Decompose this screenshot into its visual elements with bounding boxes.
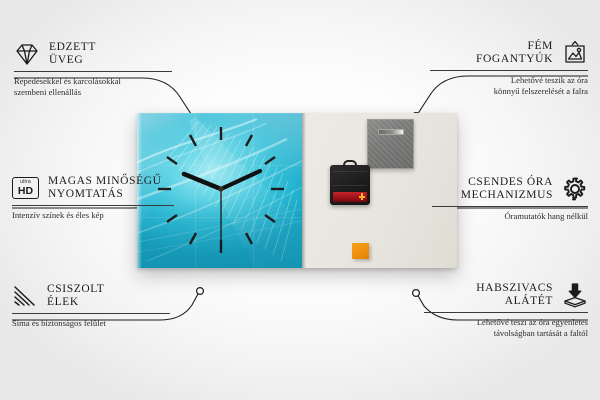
infographic-canvas: EDZETT ÜVEG Repedésekkel és karcolásokka…: [0, 0, 600, 400]
feature-high-quality-print: ultra HD MAGAS MINŐSÉGŰ NYOMTATÁS Intenz…: [12, 175, 174, 221]
clock-movement: [330, 165, 370, 205]
feature-title: CSENDES ÓRA MECHANIZMUS: [461, 176, 553, 202]
tick-10: [167, 157, 177, 164]
feature-rule: [430, 70, 588, 71]
polished-edge-icon: [12, 283, 38, 309]
feature-tempered-glass: EDZETT ÜVEG Repedésekkel és karcolásokka…: [14, 41, 172, 97]
feature-title: CSISZOLT ÉLEK: [47, 283, 104, 309]
feature-title-line-2: NYOMTATÁS: [48, 188, 162, 201]
battery: [333, 192, 367, 202]
gear-icon: [562, 176, 588, 202]
feature-rule: [12, 205, 174, 206]
feature-title: MAGAS MINŐSÉGŰ NYOMTATÁS: [48, 175, 162, 201]
feature-rule: [424, 312, 588, 313]
feature-desc-line-1: Lehetővé teszi az óra egyenletes: [424, 317, 588, 328]
tick-2: [265, 157, 275, 164]
feature-title-line-2: FOGANTYÚK: [476, 53, 553, 66]
endpoint-dot-foam-spacer: [413, 290, 420, 297]
feature-desc-line-1: Intenzív színek és éles kép: [12, 210, 174, 221]
movement-hanger-tab: [343, 160, 357, 167]
feature-title-line-1: EDZETT: [49, 41, 96, 54]
panel-seam-shadow: [302, 113, 306, 268]
tick-5: [246, 233, 252, 244]
feature-desc-line-2: könnyű felszerelését a falra: [430, 86, 588, 97]
feature-title-line-2: ALÁTÉT: [476, 295, 553, 308]
product-photo: [137, 113, 457, 268]
feature-polished-edges: CSISZOLT ÉLEK Sima és biztonságos felüle…: [12, 283, 170, 329]
foam-pad-press-icon: [562, 282, 588, 308]
feature-desc-line-1: Sima és biztonságos felület: [12, 318, 170, 329]
feature-desc-line-1: Lehetővé teszik az óra: [430, 75, 588, 86]
feature-title-line-1: CSENDES ÓRA: [461, 176, 553, 189]
movement-ridge: [333, 171, 367, 172]
ultra-label: ultra: [20, 180, 31, 185]
tick-1: [246, 135, 252, 146]
metal-hanger-plate: [367, 119, 414, 169]
wall-hanging-picture-icon: [562, 40, 588, 66]
feature-title: FÉM FOGANTYÚK: [476, 40, 553, 66]
feature-description: Sima és biztonságos felület: [12, 318, 170, 329]
feature-rule: [14, 71, 172, 72]
battery-plus-terminal: [359, 193, 365, 200]
tick-11: [190, 135, 196, 146]
feature-description: Lehetővé teszik az óra könnyű felszerelé…: [430, 75, 588, 96]
movement-ridge-2: [333, 185, 367, 186]
hd-label: HD: [18, 186, 33, 197]
feature-desc-line-2: távolságban tartását a faltól: [424, 328, 588, 339]
endpoint-dot-polished-edges: [197, 288, 204, 295]
ultra-hd-badge-icon: ultra HD: [12, 177, 39, 199]
foam-spacer-pad: [352, 243, 369, 259]
feature-desc-line-1: Óramutatók hang nélkül: [432, 211, 588, 222]
clock-hour-hand: [184, 174, 221, 189]
feature-description: Intenzív színek és éles kép: [12, 210, 174, 221]
hanger-slot: [378, 129, 404, 135]
clock-minute-hand: [221, 171, 260, 189]
clock-center-cap: [218, 186, 223, 191]
feature-description: Repedésekkel és karcolásokkal szembeni e…: [14, 76, 172, 97]
feature-description: Óramutatók hang nélkül: [432, 211, 588, 222]
tick-7: [190, 233, 196, 244]
feature-desc-line-2: szembeni ellenállás: [14, 87, 172, 98]
feature-title-line-2: ÜVEG: [49, 54, 96, 67]
diamond-icon: [14, 41, 40, 67]
feature-title-line-1: MAGAS MINŐSÉGŰ: [48, 175, 162, 188]
feature-description: Lehetővé teszi az óra egyenletes távolsá…: [424, 317, 588, 338]
feature-title-line-1: FÉM: [476, 40, 553, 53]
feature-desc-line-1: Repedésekkel és karcolásokkal: [14, 76, 172, 87]
feature-title-line-1: HABSZIVACS: [476, 282, 553, 295]
feature-title-line-2: MECHANIZMUS: [461, 189, 553, 202]
feature-rule: [432, 206, 588, 207]
feature-title-line-1: CSISZOLT: [47, 283, 104, 296]
tick-4: [265, 215, 275, 222]
feature-silent-mechanism: CSENDES ÓRA MECHANIZMUS Óramutatók hang …: [432, 176, 588, 222]
feature-metal-handles: FÉM FOGANTYÚK Lehetővé teszik az óra kön…: [430, 40, 588, 96]
feature-title: HABSZIVACS ALÁTÉT: [476, 282, 553, 308]
feature-foam-spacer: HABSZIVACS ALÁTÉT Lehetővé teszi az óra …: [424, 282, 588, 338]
feature-title: EDZETT ÜVEG: [49, 41, 96, 67]
feature-rule: [12, 313, 170, 314]
feature-title-line-2: ÉLEK: [47, 296, 104, 309]
